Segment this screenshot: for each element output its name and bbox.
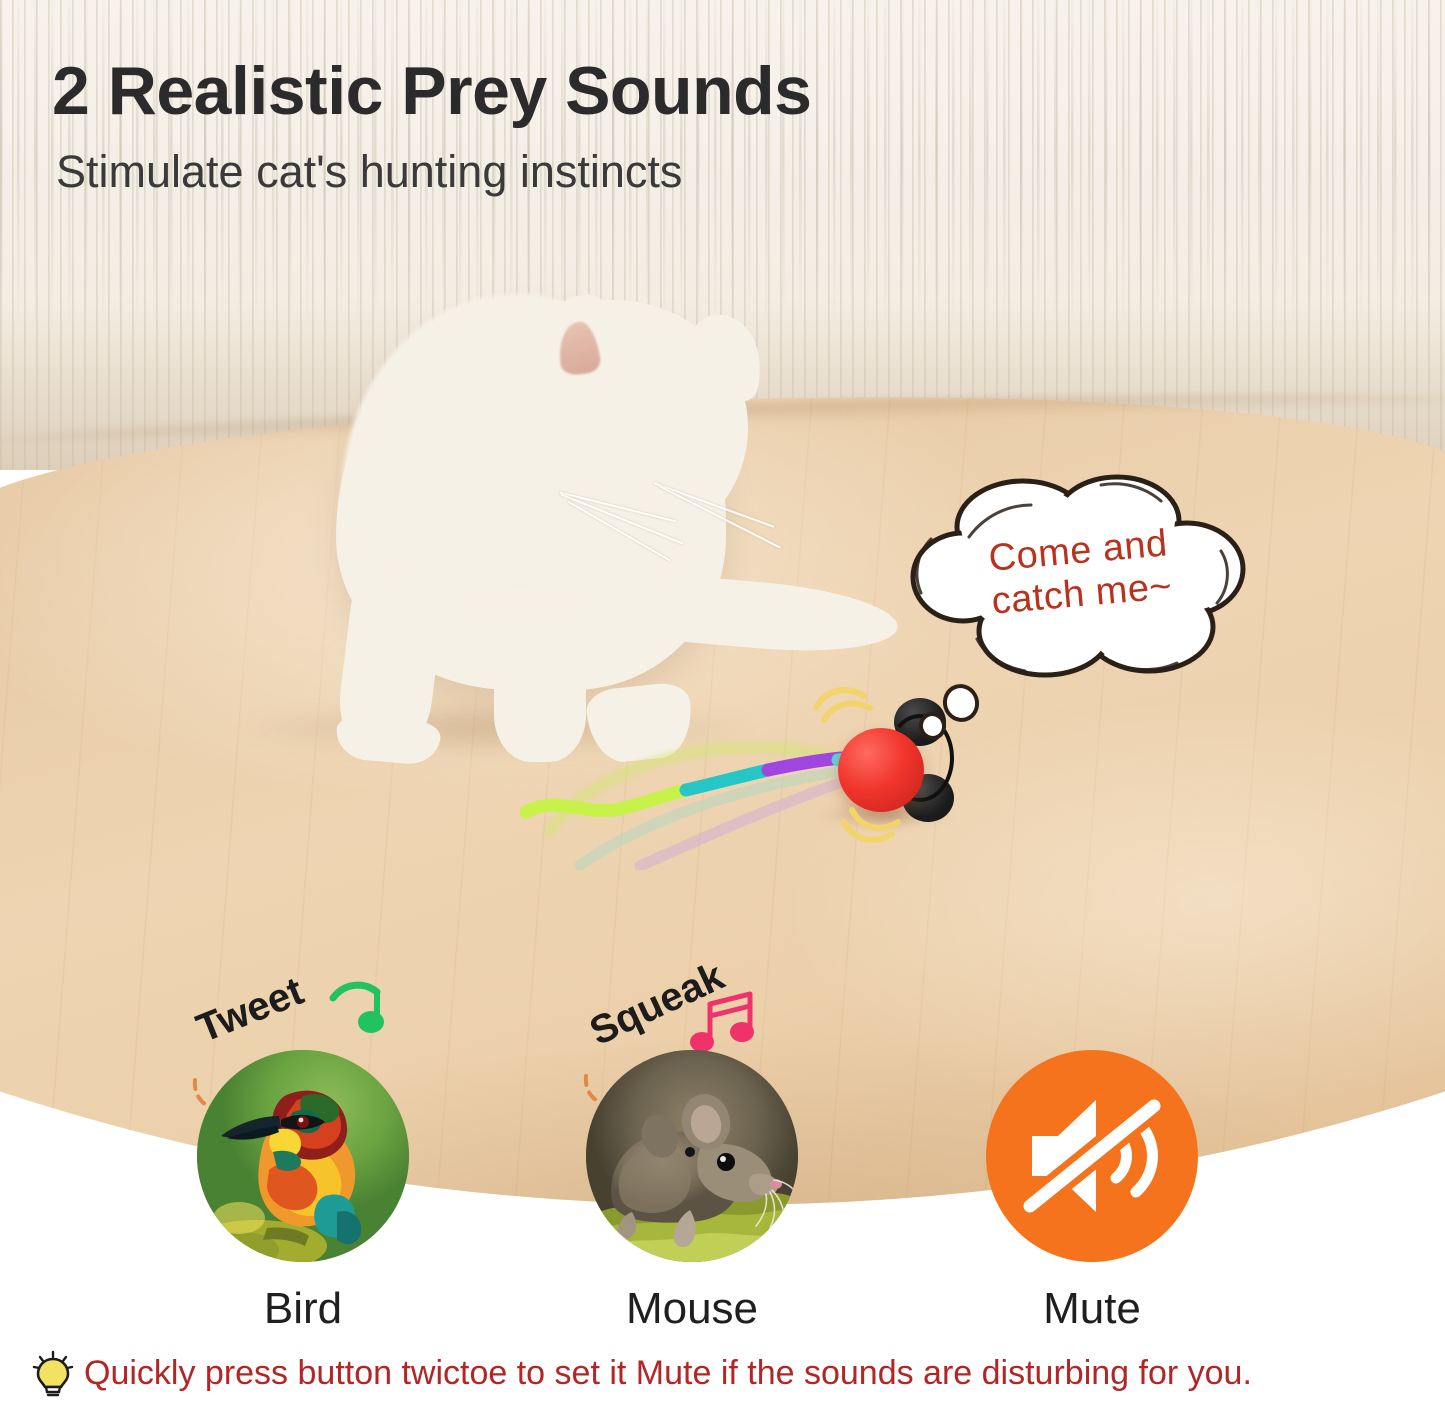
sound-option-label-bird: Bird bbox=[173, 1284, 433, 1334]
motion-lines-bottom bbox=[838, 804, 908, 850]
page-title: 2 Realistic Prey Sounds bbox=[52, 52, 811, 130]
sound-options-row: Tweet bbox=[0, 1050, 1445, 1320]
thought-bubble-shape bbox=[905, 465, 1255, 680]
page-subtitle: Stimulate cat's hunting instincts bbox=[56, 146, 682, 198]
mute-button-circle[interactable] bbox=[986, 1050, 1198, 1262]
lightbulb-icon bbox=[30, 1349, 76, 1397]
sound-option-label-mouse: Mouse bbox=[562, 1284, 822, 1334]
motion-lines-top bbox=[810, 678, 880, 724]
bee-eater-bird-illustration bbox=[197, 1050, 409, 1262]
cat-tail bbox=[660, 574, 901, 660]
mouse-image-circle[interactable] bbox=[586, 1050, 798, 1262]
cat-left-eye bbox=[564, 430, 610, 448]
footer-note-text: Quickly press button twictoe to set it M… bbox=[84, 1354, 1252, 1393]
sound-option-mute[interactable]: Mute bbox=[962, 1050, 1222, 1334]
thought-bubble: Come and catch me~ bbox=[905, 465, 1255, 680]
product-feature-image: Come and catch me~ 2 Realistic Prey Soun… bbox=[0, 0, 1445, 1403]
cat-photo bbox=[258, 278, 878, 758]
bird-image-circle[interactable] bbox=[197, 1050, 409, 1262]
music-note-green-icon bbox=[321, 978, 387, 1040]
mouse-illustration bbox=[586, 1050, 798, 1262]
cat-toy-ball bbox=[520, 690, 990, 870]
footer-note: Quickly press button twictoe to set it M… bbox=[0, 1344, 1445, 1402]
sound-option-mouse[interactable]: Squeak bbox=[562, 1050, 822, 1334]
sound-option-bird[interactable]: Tweet bbox=[173, 1050, 433, 1334]
toy-red-ball bbox=[838, 728, 924, 812]
sound-option-label-mute: Mute bbox=[962, 1284, 1222, 1334]
speaker-muted-icon bbox=[986, 1050, 1198, 1262]
cat-right-eye bbox=[650, 438, 692, 453]
